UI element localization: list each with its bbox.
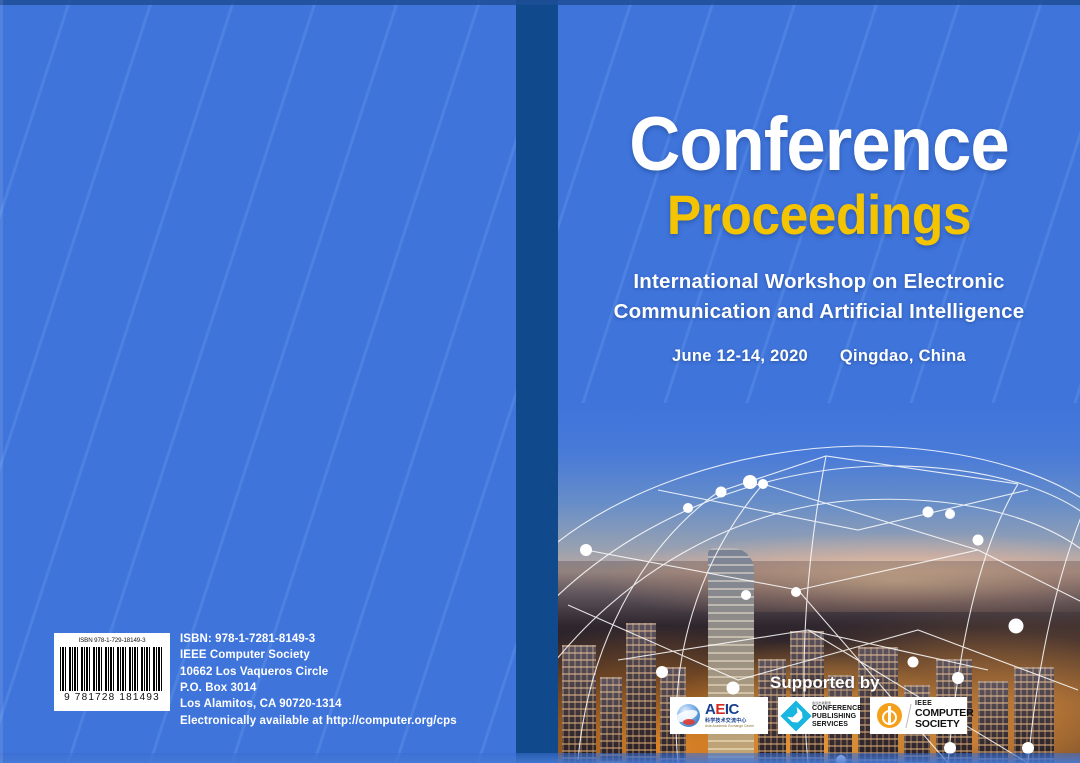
ieee-text: IEEE COMPUTER SOCIETY (915, 700, 973, 731)
aeic-english-line: Asia Academic Exchange Center (705, 725, 754, 728)
event-location: Qingdao, China (840, 347, 966, 365)
event-date-location: June 12-14, 2020 Qingdao, China (558, 347, 1080, 366)
barcode-digits: 9 781728 181493 (64, 692, 160, 703)
ieee-line3: SOCIETY (915, 719, 973, 731)
publisher-line-city: Los Alamitos, CA 90720-1314 (180, 696, 457, 712)
isbn-barcode: ISBN 978-1-729-18149-3 9 781728 181493 (54, 633, 170, 711)
ieee-circle-icon (877, 703, 902, 728)
workshop-name: International Workshop on Electronic Com… (558, 267, 1080, 326)
sponsor-logo-strip: AEIC 科学技术交流中心 Asia Academic Exchange Cen… (670, 697, 967, 734)
left-edge-band (0, 0, 3, 763)
divider (905, 704, 911, 728)
page-title: Conference (576, 108, 1061, 182)
aeic-acronym: AEIC (705, 702, 754, 717)
bottom-edge-band (0, 753, 1080, 763)
barcode-label: ISBN 978-1-729-18149-3 (79, 637, 146, 644)
publisher-info: ISBN: 978-1-7281-8149-3 IEEE Computer So… (180, 631, 457, 729)
cps-diamond-icon (780, 700, 811, 731)
sponsor-logo-aeic: AEIC 科学技术交流中心 Asia Academic Exchange Cen… (670, 697, 768, 734)
workshop-name-line2: Communication and Artificial Intelligenc… (558, 297, 1080, 327)
publisher-line-isbn: ISBN: 978-1-7281-8149-3 (180, 631, 457, 647)
cps-text: 会议出版服务 CONFERENCE PUBLISHING SERVICES (812, 702, 862, 729)
cps-line1: CONFERENCE (812, 705, 862, 713)
barcode-bars (60, 647, 164, 691)
supported-by-label: Supported by (770, 673, 880, 693)
page-subtitle-proceedings: Proceedings (579, 186, 1059, 245)
publisher-line-pobox: P.O. Box 3014 (180, 680, 457, 696)
publisher-line-url: Electronically available at http://compu… (180, 713, 457, 729)
top-edge-band (0, 0, 1080, 5)
cps-line3: SERVICES (812, 721, 862, 729)
globe-icon (677, 704, 700, 727)
book-spine (516, 0, 559, 763)
title-block: Conference Proceedings International Wor… (558, 108, 1080, 366)
publisher-line-street: 10662 Los Vaqueros Circle (180, 664, 457, 680)
workshop-name-line1: International Workshop on Electronic (558, 267, 1080, 297)
conference-proceedings-cover: Conference Proceedings International Wor… (0, 0, 1080, 763)
aeic-text: AEIC 科学技术交流中心 Asia Academic Exchange Cen… (705, 702, 754, 728)
publisher-line-org: IEEE Computer Society (180, 647, 457, 663)
sponsor-logo-cps: 会议出版服务 CONFERENCE PUBLISHING SERVICES (778, 697, 860, 734)
event-date: June 12-14, 2020 (672, 347, 808, 365)
sponsor-logo-ieee-computer-society: IEEE COMPUTER SOCIETY (870, 697, 967, 734)
cps-line2: PUBLISHING (812, 713, 862, 721)
